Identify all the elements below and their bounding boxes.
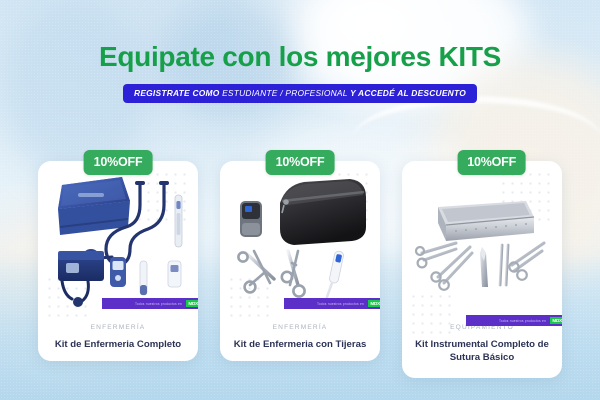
product-card[interactable]: Todos nuestros productos en MDX ENFERMER… [220, 161, 380, 361]
discount-badge: 10%OFF [266, 150, 335, 175]
product-image [408, 165, 556, 317]
forceps-graphic [282, 251, 305, 297]
sterilization-tray-graphic [438, 201, 534, 241]
pulse-oximeter-graphic [110, 257, 126, 287]
product-name: Kit de Enfermeria Completo [38, 338, 198, 351]
brand-strip-text: Todos nuestros productos en [317, 302, 364, 306]
product-category: ENFERMERÍA [220, 323, 380, 332]
product-card-slot: 10%OFF [220, 150, 380, 361]
scissors-graphic [509, 243, 544, 280]
product-card[interactable]: Todos nuestros productos en MDX EQUIPAMI… [402, 161, 562, 378]
headline-block: Equipate con los mejores KITS REGISTRATE… [0, 40, 600, 103]
product-card-slot: 10%OFF [38, 150, 198, 361]
tweezers-graphic [500, 245, 508, 285]
discount-badge: 10%OFF [84, 150, 153, 175]
small-device-graphic [168, 261, 181, 287]
callout-part-3: Y ACCEDÉ AL DESCUENTO [350, 88, 466, 98]
promo-banner: Equipate con los mejores KITS REGISTRATE… [0, 0, 600, 400]
forceps-graphic [431, 247, 472, 290]
callout-part-2: ESTUDIANTE / PROFESIONAL [222, 88, 347, 98]
brand-strip: Todos nuestros productos en MDX [466, 315, 562, 326]
blood-pressure-cuff-graphic [58, 251, 104, 307]
callout-part-1: REGISTRATE COMO [134, 88, 219, 98]
product-card-slot: 10%OFF [402, 150, 562, 378]
scalpel-graphic [480, 247, 488, 287]
zipper-pouch-graphic [280, 179, 366, 245]
registration-callout: REGISTRATE COMO ESTUDIANTE / PROFESIONAL… [123, 84, 477, 103]
brand-strip-mark: MDX [186, 300, 198, 307]
product-card[interactable]: Todos nuestros productos en MDX ENFERMER… [38, 161, 198, 361]
product-category: ENFERMERÍA [38, 323, 198, 332]
product-image [226, 165, 374, 317]
thermometer-graphic [327, 251, 344, 297]
brand-strip-text: Todos nuestros productos en [135, 302, 182, 306]
product-name: Kit de Enfermeria con Tijeras [220, 338, 380, 351]
product-name: Kit Instrumental Completo de Sutura Bási… [402, 338, 562, 364]
page-title: Equipate con los mejores KITS [0, 40, 600, 74]
carry-case-graphic [58, 177, 130, 235]
discount-badge: 10%OFF [457, 150, 526, 175]
brand-strip-mark: MDX [368, 300, 380, 307]
product-card-list: 10%OFF [0, 150, 600, 378]
scissors-graphic [238, 251, 274, 292]
penlight-graphic [140, 261, 147, 295]
thermometer-graphic [175, 195, 182, 247]
brand-strip: Todos nuestros productos en MDX [102, 298, 198, 309]
pulse-oximeter-graphic [240, 201, 262, 237]
brand-strip-mark: MDX [550, 317, 562, 324]
product-image [44, 165, 192, 317]
brand-strip: Todos nuestros productos en MDX [284, 298, 380, 309]
brand-strip-text: Todos nuestros productos en [499, 319, 546, 323]
